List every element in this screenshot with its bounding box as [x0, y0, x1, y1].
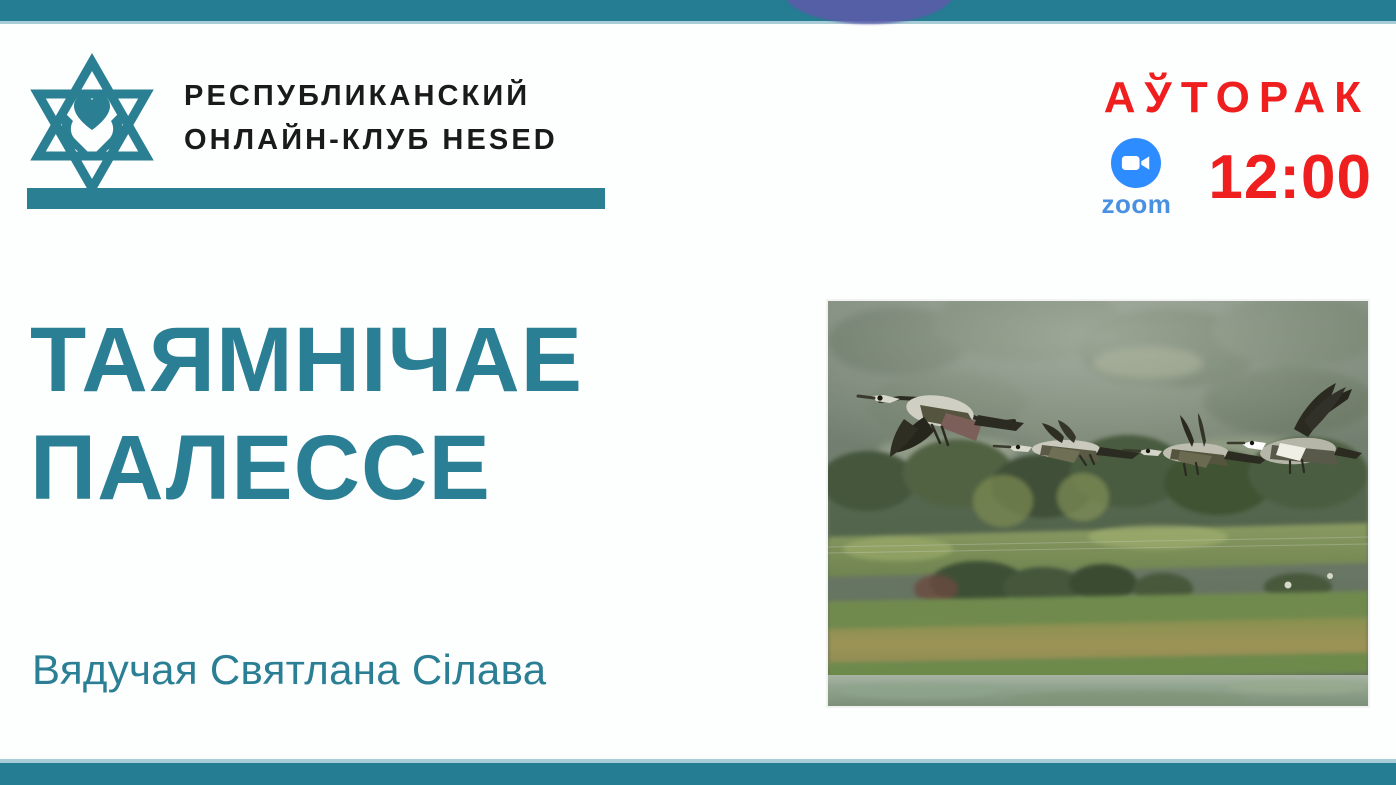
bottom-accent-bar [0, 763, 1396, 785]
brand-header: РЕСПУБЛИКАНСКИЙ ОНЛАЙН-КЛУБ HESED [0, 40, 660, 220]
star-of-david-heart-hands-icon [22, 48, 162, 198]
event-title-line-2: ПАЛЕССЕ [30, 414, 790, 522]
brand-title-line-2: ОНЛАЙН-КЛУБ HESED [184, 118, 654, 162]
event-time-label: 12:00 [1208, 147, 1372, 209]
event-day-label: АЎТОРАК [992, 72, 1372, 124]
event-photo [828, 301, 1368, 706]
brand-title-group: РЕСПУБЛИКАНСКИЙ ОНЛАЙН-КЛУБ HESED [184, 74, 654, 162]
brand-title-line-1: РЕСПУБЛИКАНСКИЙ [184, 74, 654, 118]
presenter-label: Вядучая Святлана Сілава [32, 645, 546, 695]
poster-canvas: РЕСПУБЛИКАНСКИЙ ОНЛАЙН-КЛУБ HESED АЎТОРА… [0, 0, 1396, 785]
zoom-wordmark: zoom [1101, 190, 1171, 218]
brand-underline-bar [27, 188, 605, 209]
top-accent-bar [0, 0, 1396, 21]
event-title-line-1: ТАЯМНІЧАЕ [30, 306, 790, 414]
zoom-video-camera-icon [1111, 138, 1161, 188]
schedule-block: АЎТОРАК zoom 12:00 [992, 72, 1372, 218]
zoom-platform-badge: zoom [1090, 138, 1182, 218]
event-title-block: ТАЯМНІЧАЕ ПАЛЕССЕ [30, 306, 790, 522]
schedule-details-row: zoom 12:00 [992, 138, 1372, 218]
top-accent-bar-shadow [0, 21, 1396, 24]
